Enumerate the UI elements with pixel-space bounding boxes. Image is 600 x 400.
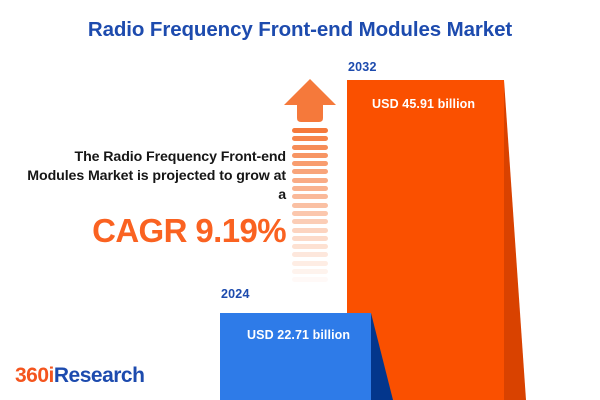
arrow-stripe xyxy=(292,228,328,233)
infographic-canvas: Radio Frequency Front-end Modules Market… xyxy=(0,0,600,400)
arrow-stripe xyxy=(292,153,328,158)
arrow-stripes xyxy=(292,128,328,293)
arrow-head-icon xyxy=(283,78,337,126)
arrow-stripe xyxy=(292,178,328,183)
arrow-stripe xyxy=(292,169,328,174)
arrow-stripe xyxy=(292,236,328,241)
growth-up-arrow-icon xyxy=(283,78,337,293)
arrow-stripe xyxy=(292,244,328,249)
arrow-stripe xyxy=(292,136,328,141)
arrow-stripe xyxy=(292,277,328,282)
bar-2032-value-label: USD 45.91 billion xyxy=(372,97,475,111)
bar-2024-front-face xyxy=(220,313,371,400)
cagr-block: The Radio Frequency Front-end Modules Ma… xyxy=(22,148,286,250)
arrow-stripe xyxy=(292,211,328,216)
year-label-2024: 2024 xyxy=(221,287,250,301)
logo[interactable]: 360iResearch xyxy=(15,364,144,388)
cagr-description: The Radio Frequency Front-end Modules Ma… xyxy=(22,148,286,205)
arrow-stripe xyxy=(292,219,328,224)
arrow-stripe xyxy=(292,128,328,133)
arrow-stripe xyxy=(292,145,328,150)
bar-2024-value-label: USD 22.71 billion xyxy=(247,328,350,342)
year-label-2032: 2032 xyxy=(348,60,377,74)
bar-2032-side-face xyxy=(504,80,526,400)
arrow-stripe xyxy=(292,252,328,257)
bar-2024 xyxy=(220,313,371,400)
arrow-stripe xyxy=(292,161,328,166)
page-title: Radio Frequency Front-end Modules Market xyxy=(0,18,600,42)
cagr-value: CAGR 9.19% xyxy=(22,212,286,250)
logo-research-text: Research xyxy=(54,364,145,387)
arrow-stripe xyxy=(292,203,328,208)
logo-360i-text: 360i xyxy=(15,364,54,387)
arrow-stripe xyxy=(292,194,328,199)
arrow-stripe xyxy=(292,261,328,266)
arrow-stripe xyxy=(292,186,328,191)
arrow-stripe xyxy=(292,269,328,274)
